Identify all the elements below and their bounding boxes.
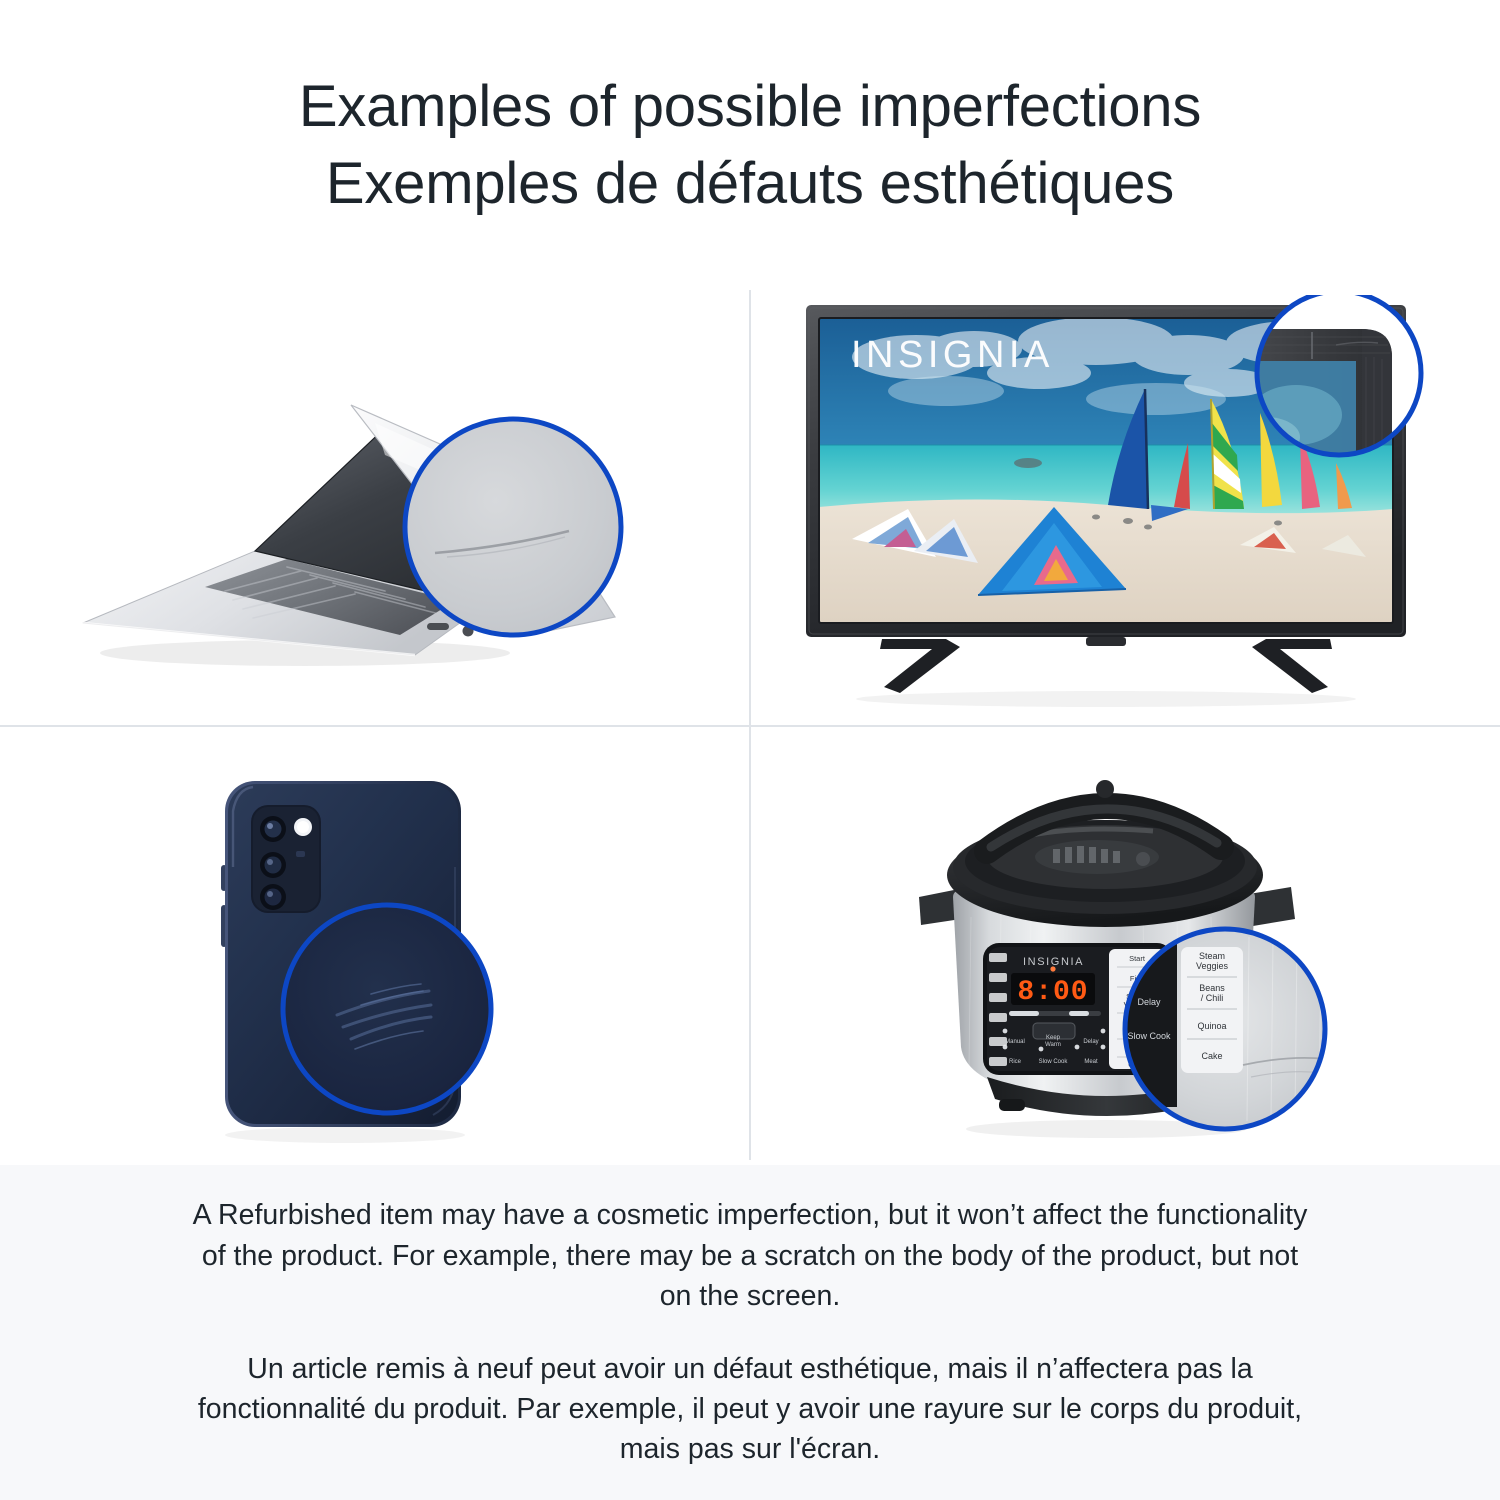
svg-text:Delay: Delay: [1083, 1039, 1098, 1045]
svg-text:/ Chili: / Chili: [1200, 993, 1223, 1003]
page-footer: A Refurbished item may have a cosmetic i…: [0, 1165, 1500, 1500]
grid-cell-television: INSIGNIA: [751, 285, 1500, 725]
pressure-cooker-illustration: INSIGNIA 8:00: [891, 747, 1361, 1147]
svg-text:Manual: Manual: [1005, 1039, 1025, 1045]
grid-cell-smartphone: [0, 727, 749, 1167]
refurbished-imperfections-infographic: Examples of possible imperfections Exemp…: [0, 0, 1500, 1500]
television-illustration: INSIGNIA: [796, 295, 1456, 715]
page-title-french: Exemples de défauts esthétiques: [326, 145, 1174, 222]
laptop-illustration: [55, 305, 695, 705]
phone-camera-module: [251, 805, 321, 913]
svg-text:Start: Start: [1129, 954, 1146, 963]
svg-text:Beans: Beans: [1199, 983, 1225, 993]
svg-text:Steam: Steam: [1198, 951, 1224, 961]
tv-stand-legs: [880, 639, 1332, 693]
svg-text:Rice: Rice: [1008, 1059, 1021, 1065]
smartphone-illustration: [165, 747, 585, 1147]
tv-brand-label: INSIGNIA: [851, 334, 1054, 376]
svg-text:Slow Cook: Slow Cook: [1038, 1059, 1068, 1065]
svg-text:Delay: Delay: [1137, 997, 1161, 1007]
svg-text:Slow Cook: Slow Cook: [1127, 1031, 1171, 1041]
cooker-display-value: 8:00: [1017, 977, 1088, 1008]
cooker-brand-label: INSIGNIA: [1023, 956, 1084, 968]
svg-text:Warm: Warm: [1045, 1042, 1061, 1048]
svg-text:Keep: Keep: [1045, 1035, 1060, 1041]
svg-text:Veggies: Veggies: [1195, 961, 1228, 971]
phone-imperfection-magnifier: [283, 905, 491, 1113]
footer-paragraph-english: A Refurbished item may have a cosmetic i…: [183, 1195, 1318, 1316]
grid-cell-laptop: [0, 285, 749, 725]
page-header: Examples of possible imperfections Exemp…: [0, 0, 1500, 280]
grid-cell-pressure-cooker: INSIGNIA 8:00: [751, 727, 1500, 1167]
product-examples-grid: INSIGNIA: [0, 285, 1500, 1165]
svg-text:Quinoa: Quinoa: [1197, 1021, 1226, 1031]
cooker-imperfection-magnifier: Steam Veggies Beans / Chili Quinoa Cake …: [1125, 929, 1327, 1129]
svg-text:Meat: Meat: [1084, 1059, 1098, 1065]
svg-text:Cake: Cake: [1201, 1051, 1222, 1061]
laptop-imperfection-magnifier: [405, 419, 621, 635]
footer-paragraph-french: Un article remis à neuf peut avoir un dé…: [183, 1349, 1318, 1470]
page-title-english: Examples of possible imperfections: [299, 68, 1201, 145]
